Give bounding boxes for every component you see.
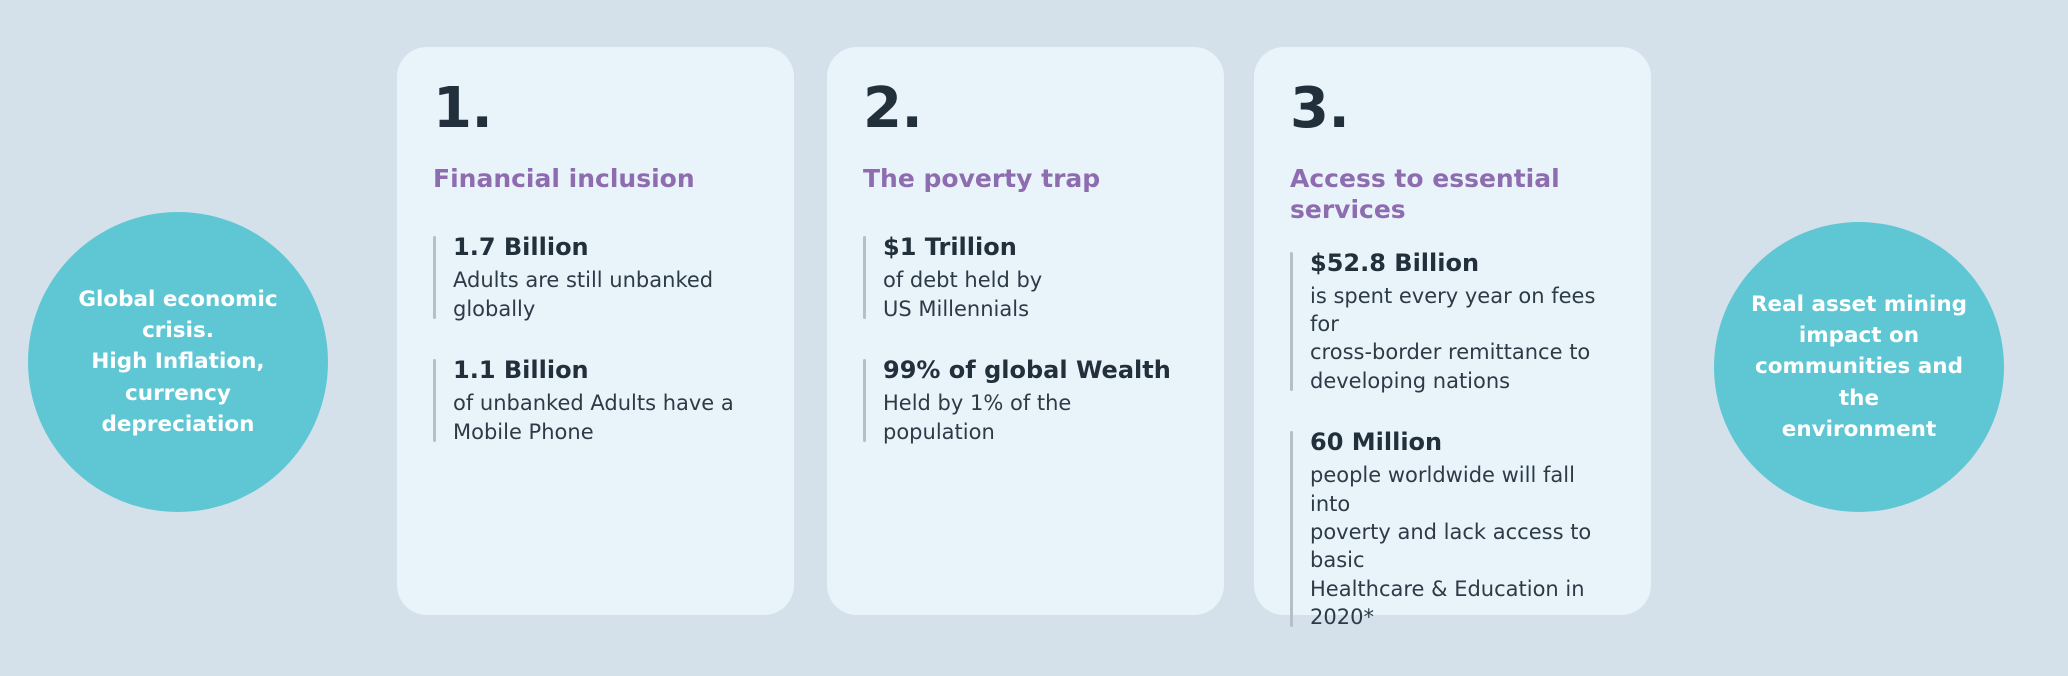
- card-number: 2.: [863, 81, 1188, 137]
- stat-block: 1.1 Billion of unbanked Adults have a Mo…: [433, 355, 758, 446]
- card-financial-inclusion: 1. Financial inclusion 1.7 Billion Adult…: [397, 47, 794, 615]
- stat-block: 60 Million people worldwide will fall in…: [1290, 427, 1615, 631]
- right-circle-text: Real asset mining impact on communities …: [1736, 289, 1982, 445]
- card-title: Financial inclusion: [433, 163, 758, 194]
- stat-block: $52.8 Billion is spent every year on fee…: [1290, 248, 1615, 396]
- stat-description: is spent every year on fees for cross-bo…: [1310, 282, 1615, 395]
- stat-value: 1.7 Billion: [453, 232, 758, 263]
- stat-value: 1.1 Billion: [453, 355, 758, 386]
- left-context-circle: Global economic crisis. High Inflation, …: [28, 212, 328, 512]
- stat-description: of unbanked Adults have a Mobile Phone: [453, 389, 758, 446]
- stat-description: Adults are still unbanked globally: [453, 266, 758, 323]
- stat-value: $1 Trillion: [883, 232, 1188, 263]
- card-title: Access to essential services: [1290, 163, 1615, 226]
- infographic-stage: Global economic crisis. High Inflation, …: [0, 0, 2068, 676]
- stat-description: of debt held by US Millennials: [883, 266, 1188, 323]
- card-access-to-essential-services: 3. Access to essential services $52.8 Bi…: [1254, 47, 1651, 615]
- stat-value: 99% of global Wealth: [883, 355, 1188, 386]
- stat-description: Held by 1% of the population: [883, 389, 1188, 446]
- stat-value: 60 Million: [1310, 427, 1615, 458]
- card-number: 3.: [1290, 81, 1615, 137]
- card-number: 1.: [433, 81, 758, 137]
- stat-block: 1.7 Billion Adults are still unbanked gl…: [433, 232, 758, 323]
- card-title: The poverty trap: [863, 163, 1188, 194]
- stat-description: people worldwide will fall into poverty …: [1310, 461, 1615, 631]
- left-circle-text: Global economic crisis. High Inflation, …: [78, 284, 277, 440]
- right-context-circle: Real asset mining impact on communities …: [1714, 222, 2004, 512]
- stat-block: $1 Trillion of debt held by US Millennia…: [863, 232, 1188, 323]
- stat-block: 99% of global Wealth Held by 1% of the p…: [863, 355, 1188, 446]
- card-poverty-trap: 2. The poverty trap $1 Trillion of debt …: [827, 47, 1224, 615]
- stat-value: $52.8 Billion: [1310, 248, 1615, 279]
